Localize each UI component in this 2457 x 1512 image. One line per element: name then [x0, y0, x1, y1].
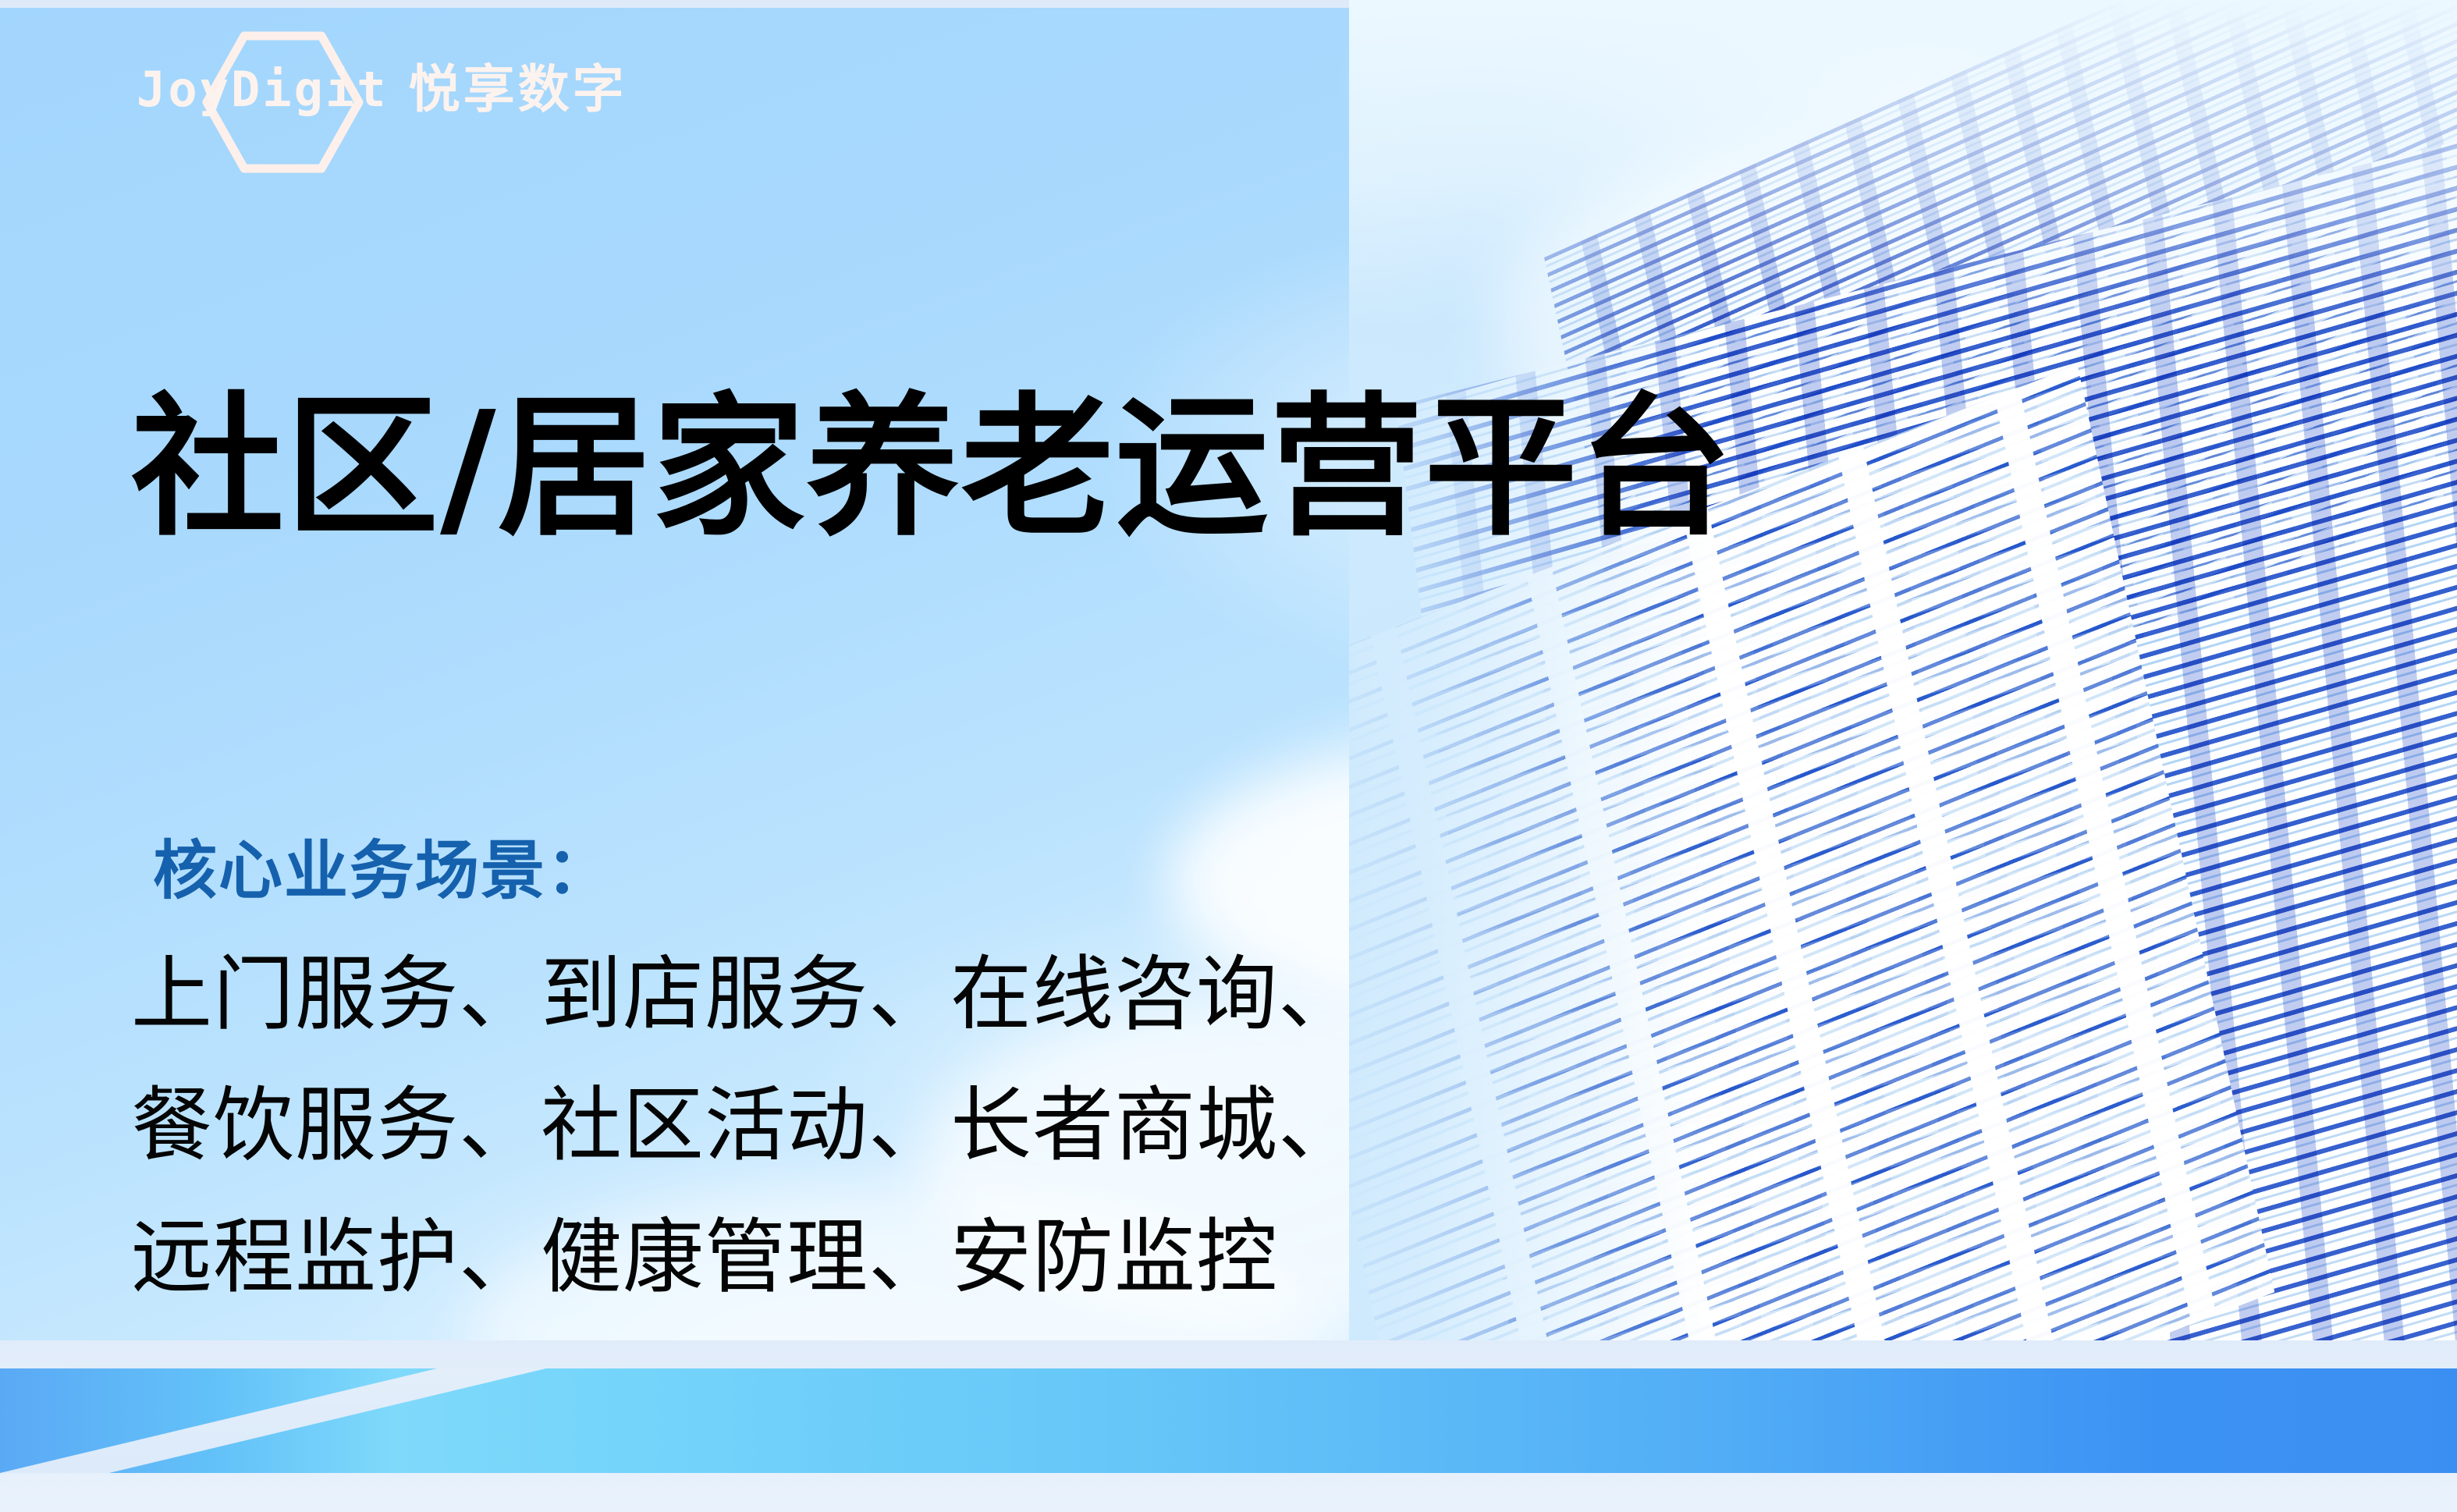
scenario-line: 餐饮服务、社区活动、长者商城、: [131, 1059, 1360, 1191]
skyscraper-photo: [1349, 0, 2457, 1512]
page-title: 社区/居家养老运营平台: [131, 383, 1734, 555]
slide-canvas: JoyDigit 悦享数字 社区/居家养老运营平台 核心业务场景： 上门服务、到…: [0, 0, 2457, 1512]
bottom-gradient-bar: [0, 1368, 2457, 1473]
bottom-decor-banner: [0, 1340, 2457, 1512]
section-heading-core-scenarios: 核心业务场景：: [153, 833, 612, 910]
brand-logo[interactable]: JoyDigit 悦享数字: [137, 64, 627, 115]
logo-chinese-name: 悦享数字: [409, 64, 627, 115]
scenario-list: 上门服务、到店服务、在线咨询、 餐饮服务、社区活动、长者商城、 远程监护、健康管…: [131, 928, 1360, 1322]
logo-wordmark: JoyDigit: [137, 66, 389, 114]
scenario-line: 上门服务、到店服务、在线咨询、: [131, 928, 1360, 1059]
scenario-line: 远程监护、健康管理、安防监控: [131, 1191, 1360, 1322]
